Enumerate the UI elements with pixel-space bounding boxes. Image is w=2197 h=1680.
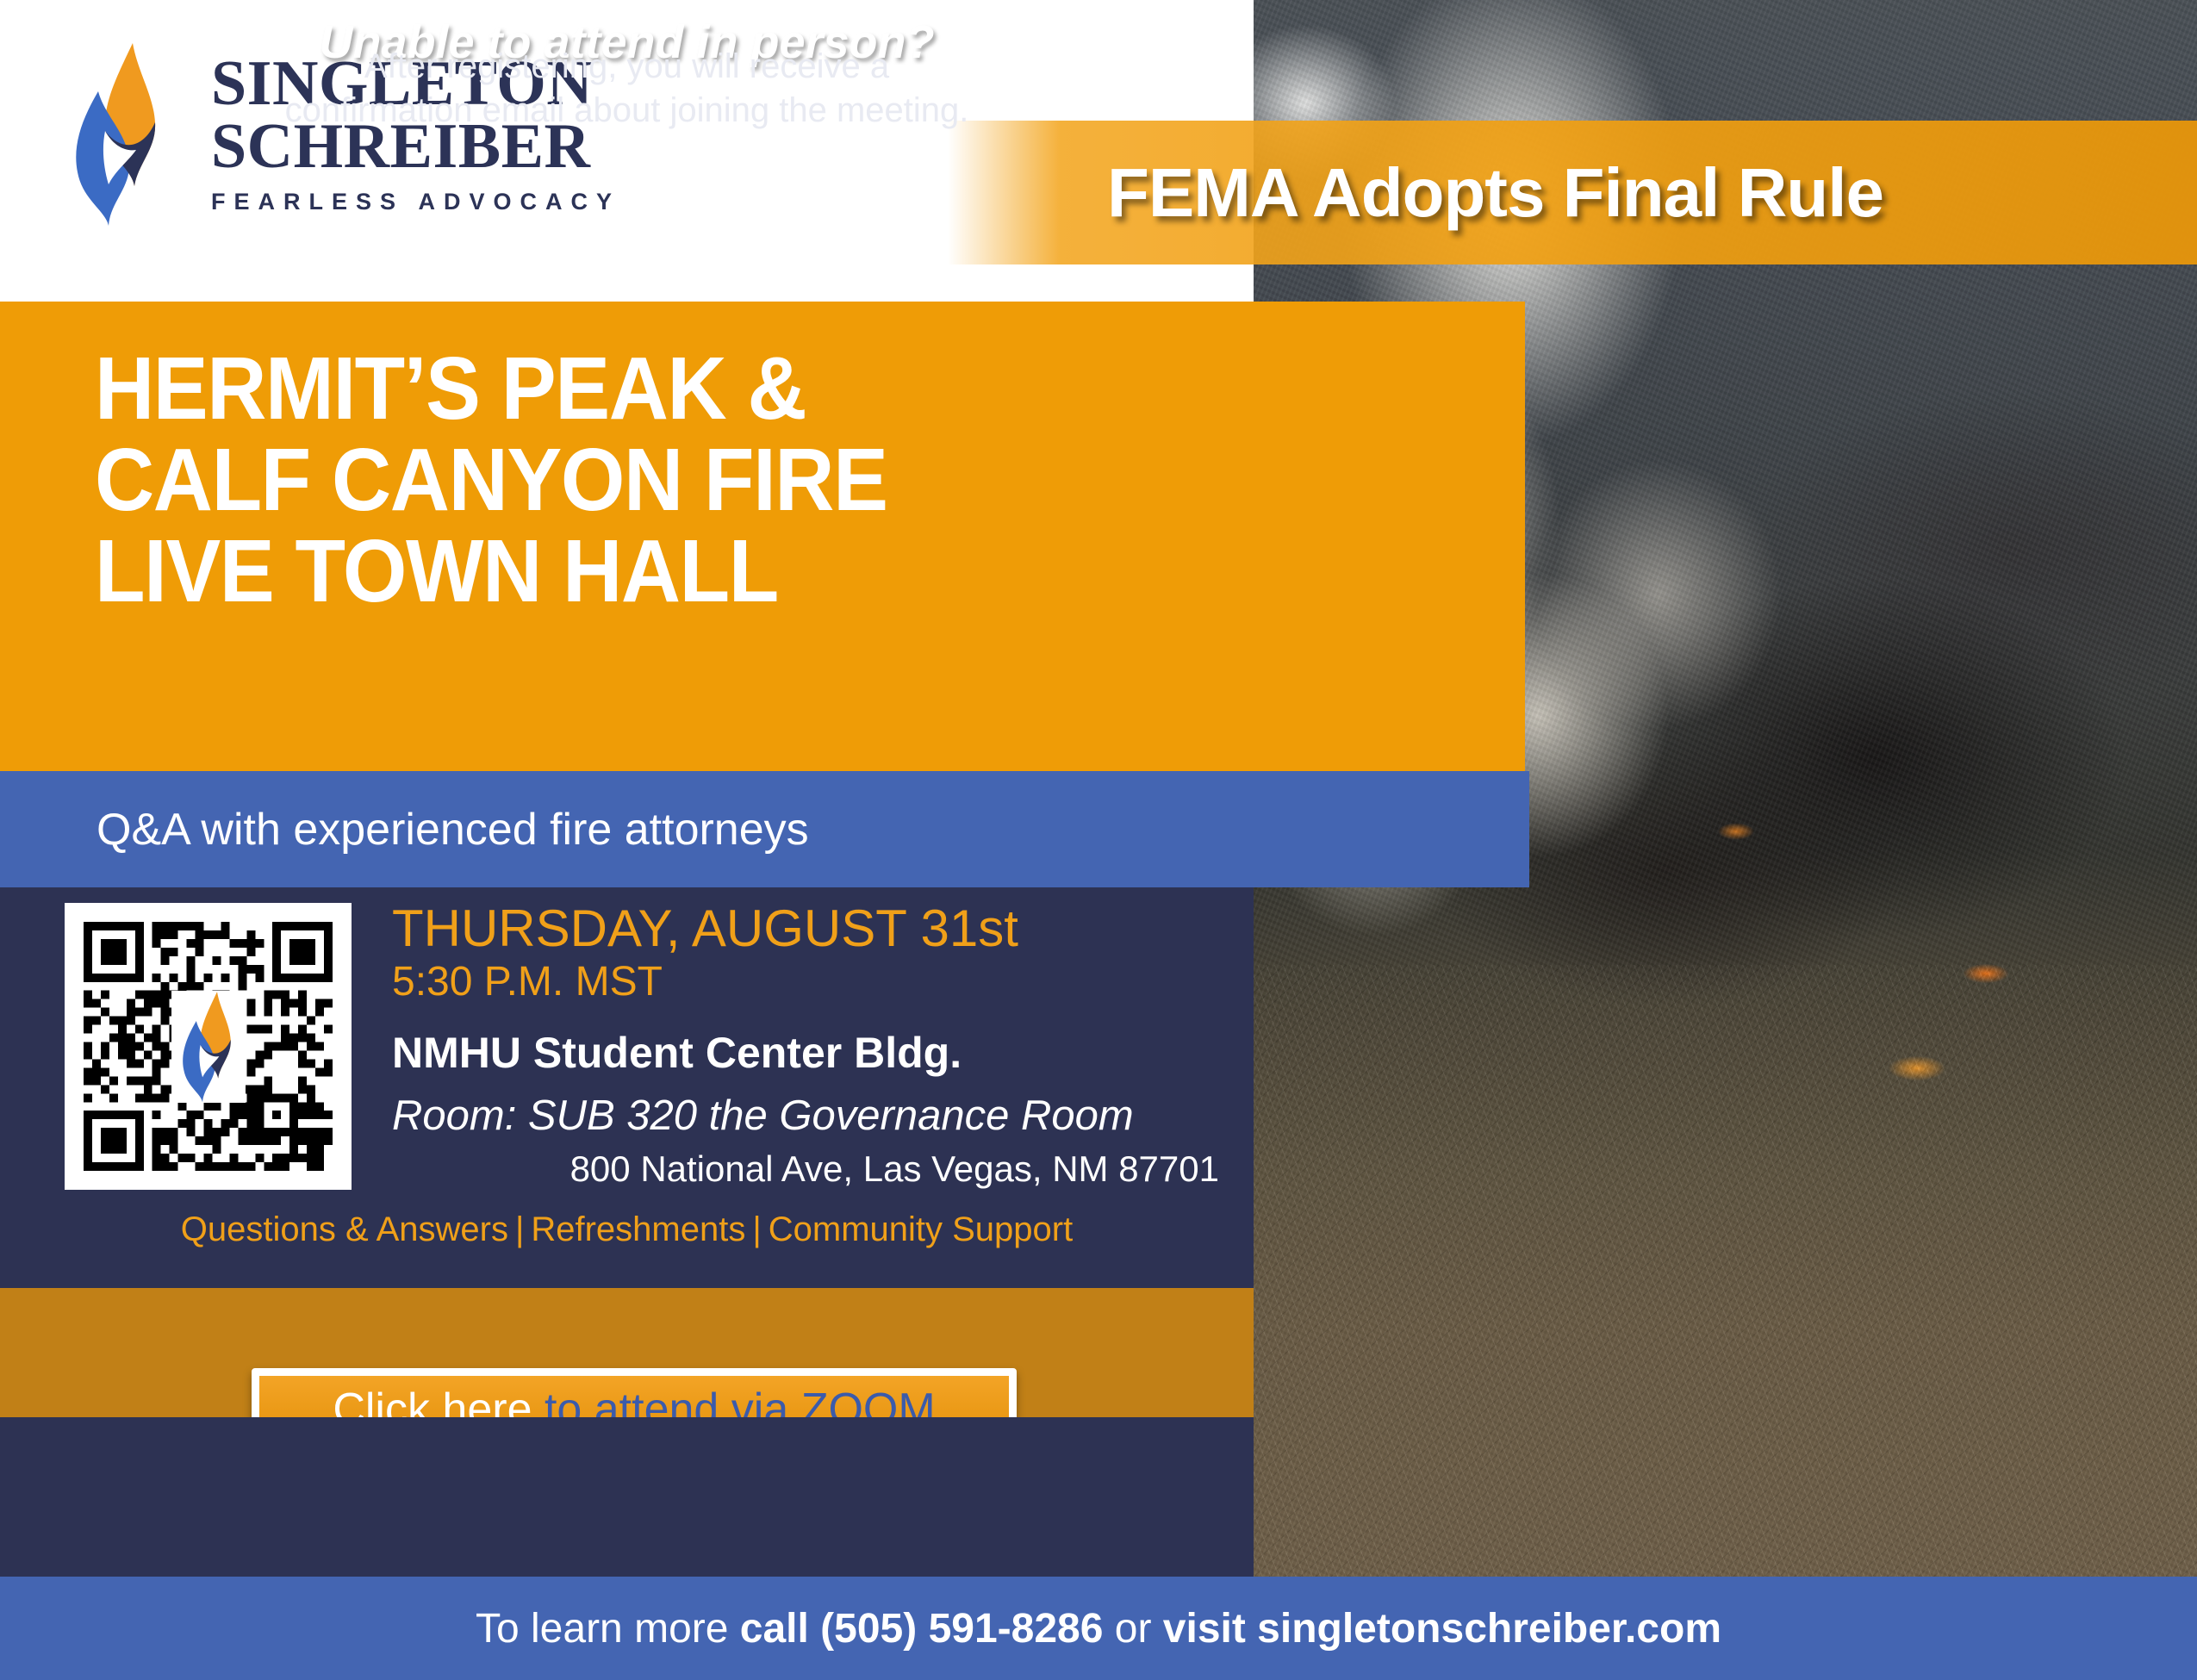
brand-tagline: FEARLESS ADVOCACY	[211, 189, 620, 215]
subtitle-bar: Q&A with experienced fire attorneys	[0, 771, 1529, 887]
headline-line-3: LIVE TOWN HALL	[95, 526, 1425, 617]
footer-phone[interactable]: call (505) 591‑8286	[740, 1606, 1104, 1652]
headline-line-2: CALF CANYON FIRE	[95, 434, 1425, 526]
footer-bar: To learn more call (505) 591‑8286 or vis…	[0, 1577, 2197, 1680]
event-text-block: THURSDAY, AUGUST 31st 5:30 P.M. MST NMHU…	[392, 901, 1219, 1190]
registration-note-line2: confirmation email about joining the mee…	[0, 89, 1254, 133]
event-address: 800 National Ave, Las Vegas, NM 87701	[392, 1148, 1219, 1190]
qr-center-flame-icon	[171, 991, 246, 1103]
footer-prefix: To learn more	[476, 1606, 740, 1652]
event-venue: NMHU Student Center Bldg.	[392, 1028, 1219, 1078]
headline-line-1: HERMIT’S PEAK &	[95, 343, 1425, 434]
event-time: 5:30 P.M. MST	[392, 958, 1219, 1005]
event-room: Room: SUB 320 the Governance Room	[392, 1092, 1219, 1140]
event-date: THURSDAY, AUGUST 31st	[392, 901, 1219, 956]
footer-contact: To learn more call (505) 591‑8286 or vis…	[476, 1605, 1721, 1652]
fema-banner-text: FEMA Adopts Final Rule	[1107, 153, 1883, 233]
perk-separator-1: |	[515, 1210, 524, 1248]
event-perks: Questions & Answers|Refreshments|Communi…	[0, 1210, 1254, 1249]
perk-community: Community Support	[769, 1210, 1073, 1248]
headline-block: HERMIT’S PEAK & CALF CANYON FIRE LIVE TO…	[0, 302, 1525, 771]
footer-website[interactable]: visit singletonschreiber.com	[1163, 1606, 1721, 1652]
footer-middle: or	[1103, 1606, 1162, 1652]
perk-separator-2: |	[752, 1210, 761, 1248]
fema-banner: FEMA Adopts Final Rule	[948, 121, 2197, 264]
perk-questions: Questions & Answers	[181, 1210, 508, 1248]
registration-note: After registering, you will receive a co…	[0, 45, 1254, 133]
qr-code-image[interactable]	[84, 922, 333, 1171]
photo-terrain-texture	[1254, 965, 2197, 1577]
qr-code-card[interactable]	[65, 903, 352, 1190]
registration-note-line1: After registering, you will receive a	[0, 45, 1254, 89]
subtitle-text: Q&A with experienced fire attorneys	[96, 804, 809, 856]
perk-refreshments: Refreshments	[531, 1210, 745, 1248]
poster-root: SINGLETON SCHREIBER FEARLESS ADVOCACY FE…	[0, 0, 2197, 1680]
registration-note-band	[0, 1417, 1254, 1577]
